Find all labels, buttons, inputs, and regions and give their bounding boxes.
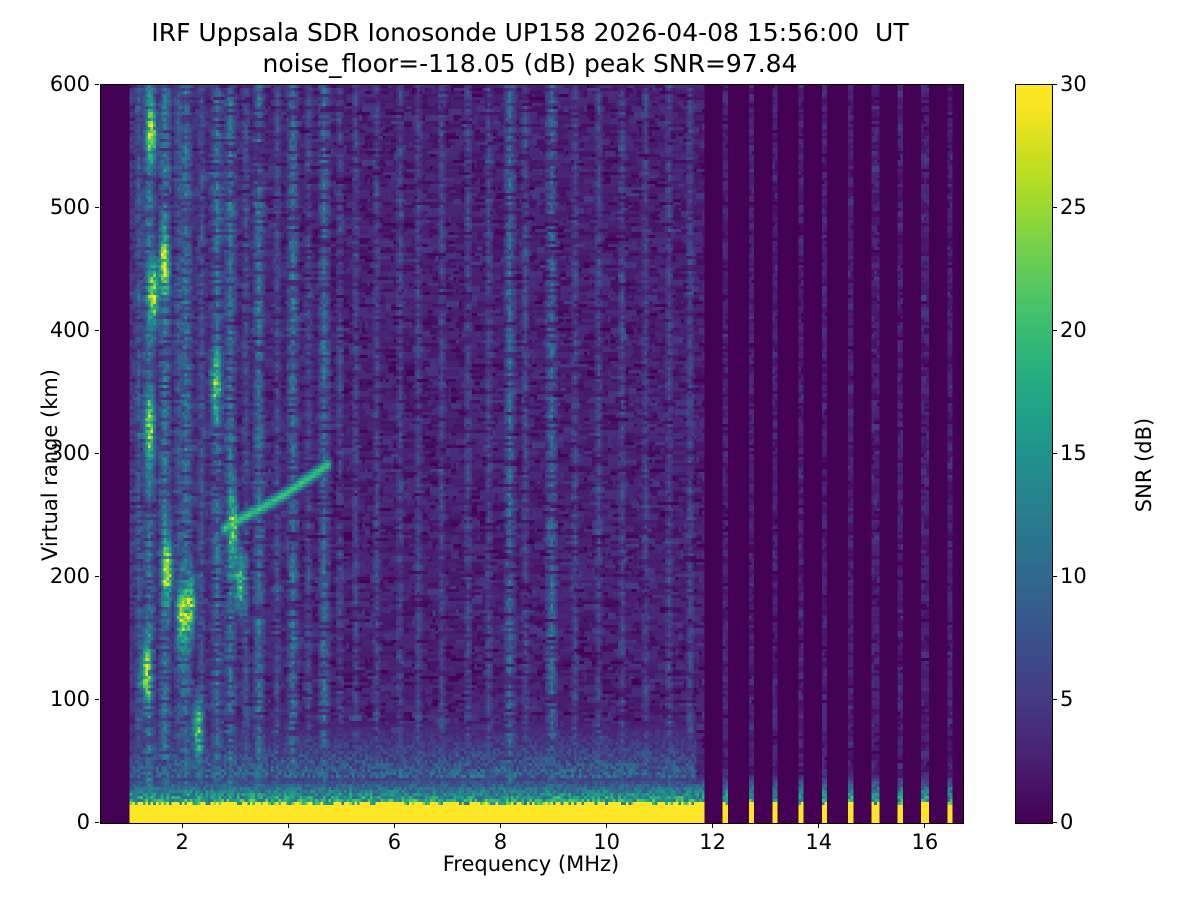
x-axis-label: Frequency (MHz) bbox=[100, 852, 962, 876]
colorbar-tick-mark bbox=[1053, 576, 1058, 577]
colorbar[interactable] bbox=[1015, 84, 1053, 824]
y-tick-mark bbox=[95, 453, 100, 454]
x-tick-label: 12 bbox=[699, 830, 726, 854]
colorbar-gradient bbox=[1016, 85, 1052, 823]
y-tick-label: 500 bbox=[4, 195, 90, 219]
y-tick-mark bbox=[95, 822, 100, 823]
x-tick-mark bbox=[818, 823, 819, 828]
y-tick-mark bbox=[95, 330, 100, 331]
y-tick-mark bbox=[95, 84, 100, 85]
y-tick-mark bbox=[95, 207, 100, 208]
x-tick-mark bbox=[500, 823, 501, 828]
x-tick-mark bbox=[182, 823, 183, 828]
x-tick-mark bbox=[288, 823, 289, 828]
x-tick-mark bbox=[712, 823, 713, 828]
x-tick-mark bbox=[606, 823, 607, 828]
ionogram-figure: IRF Uppsala SDR Ionosonde UP158 2026-04-… bbox=[0, 0, 1200, 900]
colorbar-tick-label: 5 bbox=[1060, 687, 1073, 711]
y-tick-label: 400 bbox=[4, 318, 90, 342]
x-tick-label: 6 bbox=[388, 830, 401, 854]
x-tick-mark bbox=[394, 823, 395, 828]
title-line-secondary: noise_floor=-118.05 (dB) peak SNR=97.84 bbox=[0, 49, 1060, 80]
colorbar-tick-label: 30 bbox=[1060, 72, 1087, 96]
x-tick-label: 8 bbox=[494, 830, 507, 854]
colorbar-tick-mark bbox=[1053, 207, 1058, 208]
y-tick-label: 100 bbox=[4, 687, 90, 711]
colorbar-label: SNR (dB) bbox=[1132, 345, 1156, 585]
x-tick-label: 10 bbox=[593, 830, 620, 854]
colorbar-tick-label: 10 bbox=[1060, 564, 1087, 588]
colorbar-tick-label: 25 bbox=[1060, 195, 1087, 219]
x-tick-mark bbox=[924, 823, 925, 828]
title-line-primary: IRF Uppsala SDR Ionosonde UP158 2026-04-… bbox=[0, 18, 1060, 49]
colorbar-tick-mark bbox=[1053, 330, 1058, 331]
y-axis-label: Virtual range (km) bbox=[38, 365, 62, 565]
y-tick-mark bbox=[95, 576, 100, 577]
x-tick-label: 16 bbox=[911, 830, 938, 854]
x-tick-label: 4 bbox=[282, 830, 295, 854]
colorbar-tick-mark bbox=[1053, 84, 1058, 85]
ionogram-heatmap-canvas[interactable] bbox=[101, 85, 963, 823]
colorbar-tick-label: 15 bbox=[1060, 441, 1087, 465]
colorbar-tick-mark bbox=[1053, 453, 1058, 454]
y-tick-label: 0 bbox=[4, 810, 90, 834]
colorbar-tick-mark bbox=[1053, 822, 1058, 823]
y-tick-mark bbox=[95, 699, 100, 700]
y-tick-label: 600 bbox=[4, 72, 90, 96]
figure-title: IRF Uppsala SDR Ionosonde UP158 2026-04-… bbox=[0, 18, 1060, 79]
ionogram-plot-area[interactable] bbox=[100, 84, 964, 824]
colorbar-tick-label: 0 bbox=[1060, 810, 1073, 834]
colorbar-tick-label: 20 bbox=[1060, 318, 1087, 342]
x-tick-label: 14 bbox=[805, 830, 832, 854]
x-tick-label: 2 bbox=[176, 830, 189, 854]
colorbar-tick-mark bbox=[1053, 699, 1058, 700]
y-tick-label: 200 bbox=[4, 564, 90, 588]
